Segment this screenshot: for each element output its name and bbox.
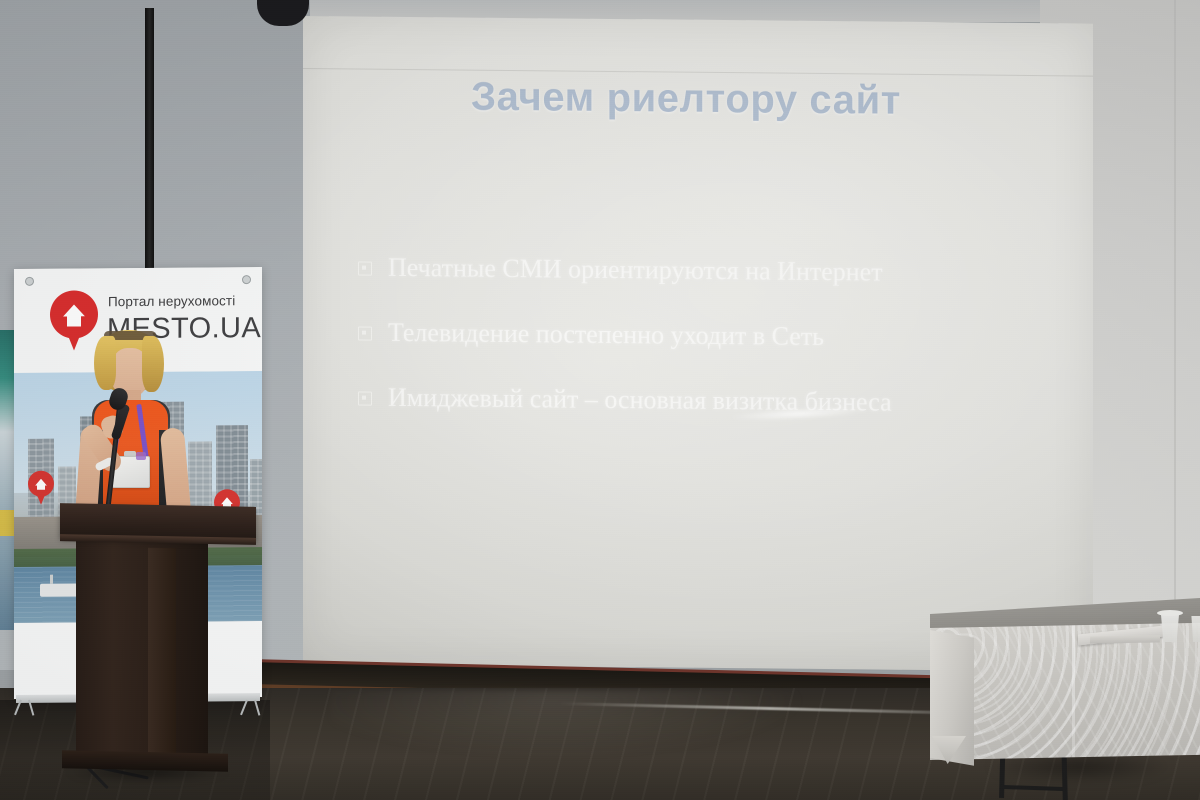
tablecloth-seam [1072,625,1075,757]
square-bullet-icon [358,392,372,406]
plastic-cup-rim [1157,610,1183,616]
bullet-text: Печатные СМИ ориентируются на Интернет [388,253,883,287]
banner-tagline: Портал нерухомості [108,293,235,309]
papers-on-table [1090,635,1160,643]
square-bullet-icon [358,262,372,276]
square-bullet-icon [358,327,372,341]
list-item: Печатные СМИ ориентируются на Интернет [358,253,1078,289]
wall-corner-seam [1174,0,1176,640]
projection-screen: Зачем риелтору сайт Печатные СМИ ориенти… [303,16,1093,672]
screen-seam [303,68,1093,77]
podium-body [76,541,208,761]
badge-glint [136,452,146,460]
map-pin-house-icon [28,471,54,505]
list-item: Телевидение постепенно уходит в Сеть [358,318,1078,354]
grommet-icon [25,277,34,286]
slide-title: Зачем риелтору сайт [471,75,1071,126]
podium-base [62,750,228,771]
speaker-stand-pole [145,8,154,280]
grommet-icon [242,275,251,284]
conference-room-photo: Зачем риелтору сайт Печатные СМИ ориенти… [0,0,1200,800]
podium-panel [148,548,176,754]
floor-sheen [330,690,890,800]
bullet-text: Телевидение постепенно уходит в Сеть [388,318,824,351]
hair-strand [94,336,116,390]
hair-strand [142,336,164,392]
